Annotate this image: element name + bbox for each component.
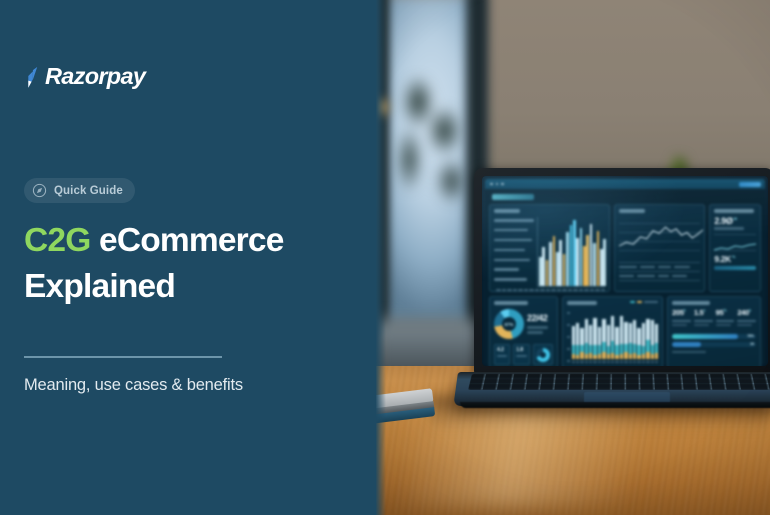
stacked-bar — [572, 326, 575, 359]
page-subtitle: Meaning, use cases & benefits — [24, 375, 354, 396]
bar-chart-legend-labels — [494, 217, 534, 287]
mini-ring-stat — [533, 344, 553, 365]
donut-mini-stats: 4.2 1.8 — [494, 344, 553, 365]
mini-ring-chart — [536, 348, 550, 362]
conversion-kpi: 1.5x — [694, 309, 713, 326]
bar — [573, 220, 576, 286]
line-chart-table — [619, 262, 700, 281]
dashboard-title — [492, 194, 534, 200]
left-content-panel: Razorpay Quick Guide C2G eCommerce Expla… — [0, 0, 376, 515]
bar-chart-bars — [539, 217, 606, 286]
dashboard-row-top: 2.9ØM 9.2K% — [489, 204, 761, 292]
bar — [583, 246, 586, 286]
kpi-secondary-suffix: % — [732, 254, 735, 259]
bar — [600, 249, 603, 286]
stacked-bar — [655, 324, 658, 359]
conversion-card[interactable]: 205k1.5x95%240k 78%34 — [667, 296, 761, 366]
kpi-card[interactable]: 2.9ØM 9.2K% — [709, 204, 761, 292]
laptop-screen: 2.9ØM 9.2K% — [482, 176, 768, 366]
traffic-light-minimize-icon[interactable] — [496, 183, 499, 186]
stacked-bar-y-axis — [567, 312, 571, 362]
stacked-bar — [615, 327, 618, 359]
page-title-accent: C2G — [24, 222, 90, 259]
photo-laptop: 2.9ØM 9.2K% — [376, 0, 770, 515]
conversion-kpi-value: 240k — [737, 309, 756, 317]
kpi-sparkline — [714, 238, 756, 246]
traffic-light-close-icon[interactable] — [490, 183, 493, 186]
mini-stat-value-1: 4.2 — [497, 347, 507, 353]
donut-card[interactable]: 67% 22/42 — [489, 296, 558, 366]
stacked-bar — [620, 316, 623, 359]
bar — [549, 242, 552, 286]
conversion-kpi-value: 95% — [716, 309, 735, 317]
stacked-bar — [651, 320, 654, 359]
donut-center-label-wrap: 67% — [502, 317, 516, 331]
conversion-kpi: 95% — [716, 309, 735, 326]
stacked-bar-plot — [567, 309, 659, 359]
stacked-bar — [585, 319, 588, 359]
stacked-bar — [642, 323, 645, 359]
stacked-bar-x-axis — [567, 361, 659, 363]
social-card: Razorpay Quick Guide C2G eCommerce Expla… — [0, 0, 770, 515]
stacked-bar-card[interactable] — [562, 296, 664, 366]
dashboard-row-bottom: 67% 22/42 — [489, 296, 761, 366]
line-chart-card-title — [619, 209, 645, 213]
bar-chart-card-title — [494, 209, 520, 213]
bar — [597, 231, 600, 286]
quick-guide-label: Quick Guide — [54, 185, 123, 197]
bar — [593, 243, 596, 286]
mini-stat-value-2: 1.8 — [516, 347, 526, 353]
stacked-bar — [624, 322, 627, 359]
stacked-bar — [593, 318, 596, 359]
conversion-kpi: 240k — [737, 309, 756, 326]
stacked-bar — [602, 319, 605, 359]
razorpay-wordmark: Razorpay — [45, 65, 145, 89]
donut-kpi-value: 22/42 — [527, 314, 553, 323]
donut-kpi: 22/42 — [527, 314, 553, 334]
donut-chart: 67% — [494, 309, 524, 339]
stacked-bar — [633, 320, 636, 359]
conversion-footer-label — [672, 351, 706, 354]
bar-chart-card[interactable] — [489, 204, 610, 292]
stacked-bar — [589, 325, 592, 359]
stacked-bar — [637, 328, 640, 359]
bar — [570, 225, 573, 286]
conversion-progress-bar: 34 — [672, 342, 756, 347]
laptop-base-front-edge — [460, 402, 770, 408]
stacked-bar — [580, 328, 583, 359]
quick-guide-badge: Quick Guide — [24, 178, 135, 203]
bar — [566, 232, 569, 286]
bar-chart-x-axis — [494, 289, 605, 291]
bar — [576, 238, 579, 286]
stacked-bar — [629, 323, 632, 359]
stacked-bar — [598, 327, 601, 359]
bar — [590, 224, 593, 286]
conversion-progress-bars: 78%34 — [672, 334, 756, 347]
donut-center-label: 67% — [505, 322, 514, 327]
bar — [539, 257, 542, 286]
kpi-primary-value: 2.9ØM — [714, 217, 756, 226]
razorpay-logo-mark-icon — [24, 67, 44, 88]
stacked-bar — [607, 325, 610, 359]
bar — [586, 235, 589, 286]
line-chart-plot — [619, 217, 700, 257]
stacked-bar-legend — [630, 301, 658, 303]
bar — [603, 239, 606, 286]
stacked-bar — [576, 323, 579, 359]
line-chart-series — [619, 217, 703, 257]
conversion-kpis: 205k1.5x95%240k — [672, 309, 756, 326]
laptop-keyboard — [468, 374, 770, 390]
dashboard-action-button[interactable] — [739, 182, 761, 187]
compass-icon — [32, 183, 47, 198]
title-divider — [24, 356, 222, 358]
bar — [580, 228, 583, 286]
conversion-card-title — [672, 301, 710, 305]
stacked-bar — [611, 316, 614, 359]
bar — [563, 254, 566, 286]
kpi-card-title — [714, 209, 754, 213]
dashboard-ui: 2.9ØM 9.2K% — [482, 176, 768, 366]
hero-photo: 2.9ØM 9.2K% — [376, 0, 770, 515]
conversion-progress-bar: 78% — [672, 334, 756, 339]
stacked-bar — [646, 319, 649, 359]
kpi-primary-suffix: M — [734, 216, 737, 221]
conversion-kpi-value: 1.5x — [694, 309, 713, 317]
page-title: C2G eCommerce Explained — [24, 218, 354, 310]
line-chart-card[interactable] — [614, 204, 705, 292]
donut-card-title — [494, 301, 528, 305]
bar-chart-plot — [537, 217, 605, 287]
kpi-secondary-value: 9.2K% — [714, 255, 756, 263]
dashboard-body: 2.9ØM 9.2K% — [485, 189, 765, 365]
bar — [556, 252, 559, 287]
bar — [559, 240, 562, 286]
bar — [553, 236, 556, 286]
conversion-kpi: 205k — [672, 309, 691, 326]
razorpay-logo[interactable]: Razorpay — [24, 62, 145, 92]
traffic-light-maximize-icon[interactable] — [501, 183, 504, 186]
conversion-kpi-value: 205k — [672, 309, 691, 317]
bar — [546, 260, 549, 286]
dashboard-title-bar — [485, 179, 765, 189]
bar — [542, 247, 545, 286]
stacked-bar-card-title — [567, 301, 597, 305]
